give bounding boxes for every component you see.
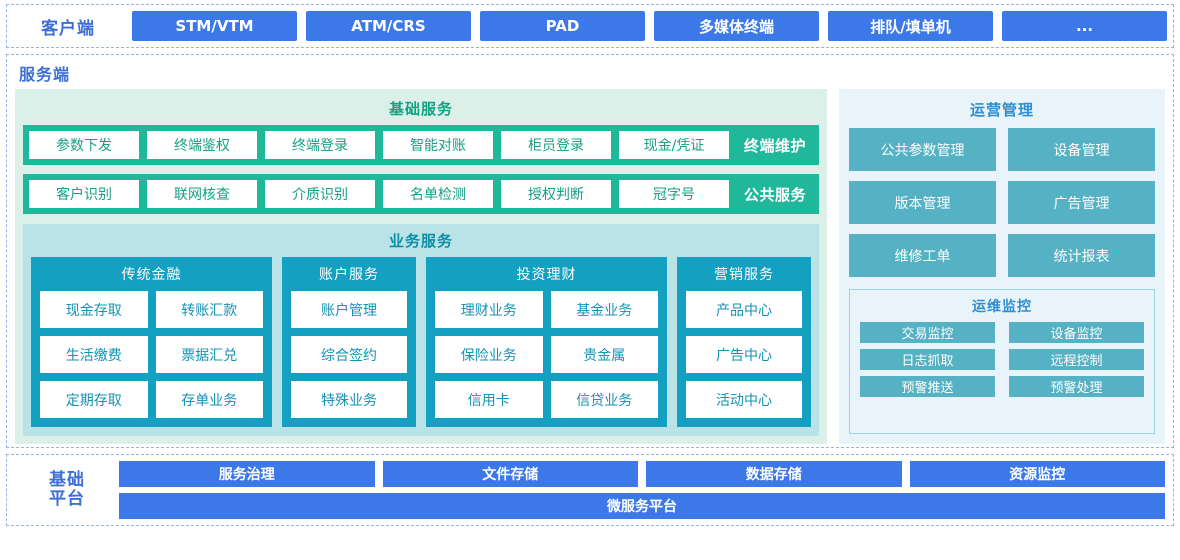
business-item-wealth-management[interactable]: 理财业务 (435, 291, 543, 328)
business-group-account-service: 账户服务 账户管理 综合签约 特殊业务 (282, 257, 416, 427)
platform-item-resource-monitoring[interactable]: 资源监控 (910, 461, 1166, 487)
business-services: 业务服务 传统金融 现金存取 转账汇款 生活缴费 票据汇兑 定期存取 存单 (23, 224, 819, 436)
business-group-items: 产品中心 广告中心 活动中心 (686, 291, 802, 418)
platform-layer: 基础 平台 服务治理 文件存储 数据存储 资源监控 微服务平台 (6, 454, 1174, 526)
platform-items: 服务治理 文件存储 数据存储 资源监控 (119, 461, 1165, 487)
operations-item-public-parameter-management[interactable]: 公共参数管理 (849, 128, 996, 171)
business-item-fixed-deposit[interactable]: 定期存取 (40, 381, 148, 418)
operations-item-repair-work-order[interactable]: 维修工单 (849, 234, 996, 277)
basic-cell-serial-number[interactable]: 冠字号 (619, 180, 729, 208)
platform-content: 服务治理 文件存储 数据存储 资源监控 微服务平台 (119, 461, 1165, 519)
client-item-pad[interactable]: PAD (480, 11, 645, 41)
operations-column: 运营管理 公共参数管理 设备管理 版本管理 广告管理 维修工单 统计报表 运维监… (839, 89, 1165, 444)
business-group-traditional-finance: 传统金融 现金存取 转账汇款 生活缴费 票据汇兑 定期存取 存单业务 (31, 257, 272, 427)
business-item-comprehensive-contract[interactable]: 综合签约 (291, 336, 407, 373)
basic-cell-media-recognition[interactable]: 介质识别 (265, 180, 375, 208)
server-layer-label: 服务端 (19, 61, 1165, 85)
business-group-investment: 投资理财 理财业务 基金业务 保险业务 贵金属 信用卡 信贷业务 (426, 257, 667, 427)
operations-item-advertising-management[interactable]: 广告管理 (1008, 181, 1155, 224)
business-group-title: 投资理财 (435, 262, 658, 291)
operations-title: 运营管理 (849, 95, 1155, 128)
operations-items: 公共参数管理 设备管理 版本管理 广告管理 维修工单 统计报表 (849, 128, 1155, 277)
operations-item-statistical-report[interactable]: 统计报表 (1008, 234, 1155, 277)
business-item-special-business[interactable]: 特殊业务 (291, 381, 407, 418)
operations-item-version-management[interactable]: 版本管理 (849, 181, 996, 224)
basic-cell-authorization-judgment[interactable]: 授权判断 (501, 180, 611, 208)
business-group-title: 传统金融 (40, 262, 263, 291)
basic-cell-terminal-login[interactable]: 终端登录 (265, 131, 375, 159)
basic-cell-param-dispatch[interactable]: 参数下发 (29, 131, 139, 159)
business-item-transfer-remittance[interactable]: 转账汇款 (156, 291, 264, 328)
business-group-items: 理财业务 基金业务 保险业务 贵金属 信用卡 信贷业务 (435, 291, 658, 418)
monitoring-item-alert-handling[interactable]: 预警处理 (1009, 376, 1144, 397)
business-item-bill-exchange[interactable]: 票据汇兑 (156, 336, 264, 373)
platform-item-service-governance[interactable]: 服务治理 (119, 461, 375, 487)
business-item-advertising-center[interactable]: 广告中心 (686, 336, 802, 373)
business-item-cash-deposit-withdrawal[interactable]: 现金存取 (40, 291, 148, 328)
basic-row-label-public-service: 公共服务 (737, 184, 813, 205)
client-item-more[interactable]: ... (1002, 11, 1167, 41)
client-layer-label: 客户端 (13, 14, 123, 39)
monitoring-box: 运维监控 交易监控 设备监控 日志抓取 远程控制 预警推送 预警处理 (849, 289, 1155, 434)
client-item-stm-vtm[interactable]: STM/VTM (132, 11, 297, 41)
client-item-multimedia-terminal[interactable]: 多媒体终端 (654, 11, 819, 41)
business-group-marketing-service: 营销服务 产品中心 广告中心 活动中心 (677, 257, 811, 427)
monitoring-item-remote-control[interactable]: 远程控制 (1009, 349, 1144, 370)
business-group-title: 营销服务 (686, 262, 802, 291)
business-group-items: 账户管理 综合签约 特殊业务 (291, 291, 407, 418)
platform-item-file-storage[interactable]: 文件存储 (383, 461, 639, 487)
platform-item-data-storage[interactable]: 数据存储 (646, 461, 902, 487)
services-column: 基础服务 参数下发 终端鉴权 终端登录 智能对账 柜员登录 现金/凭证 终端维护 (15, 89, 827, 444)
monitoring-title: 运维监控 (860, 294, 1144, 322)
platform-label-line2: 平台 (15, 490, 119, 509)
business-group-items: 现金存取 转账汇款 生活缴费 票据汇兑 定期存取 存单业务 (40, 291, 263, 418)
basic-cell-customer-identification[interactable]: 客户识别 (29, 180, 139, 208)
business-services-groups: 传统金融 现金存取 转账汇款 生活缴费 票据汇兑 定期存取 存单业务 (31, 257, 811, 427)
business-item-certificate-deposit[interactable]: 存单业务 (156, 381, 264, 418)
platform-layer-label: 基础 平台 (15, 471, 119, 508)
business-item-activity-center[interactable]: 活动中心 (686, 381, 802, 418)
monitoring-item-log-capture[interactable]: 日志抓取 (860, 349, 995, 370)
basic-cell-terminal-auth[interactable]: 终端鉴权 (147, 131, 257, 159)
architecture-diagram: 客户端 STM/VTM ATM/CRS PAD 多媒体终端 排队/填单机 ...… (0, 0, 1180, 560)
monitoring-items: 交易监控 设备监控 日志抓取 远程控制 预警推送 预警处理 (860, 322, 1144, 397)
basic-cell-list-check[interactable]: 名单检测 (383, 180, 493, 208)
business-item-fund-business[interactable]: 基金业务 (551, 291, 659, 328)
basic-services-title: 基础服务 (23, 95, 819, 125)
platform-label-line1: 基础 (15, 471, 119, 490)
basic-cell-online-verification[interactable]: 联网核查 (147, 180, 257, 208)
basic-cell-smart-reconciliation[interactable]: 智能对账 (383, 131, 493, 159)
platform-item-microservice-platform[interactable]: 微服务平台 (119, 493, 1165, 519)
monitoring-item-device-monitoring[interactable]: 设备监控 (1009, 322, 1144, 343)
business-item-credit-business[interactable]: 信贷业务 (551, 381, 659, 418)
basic-services-row: 参数下发 终端鉴权 终端登录 智能对账 柜员登录 现金/凭证 终端维护 (23, 125, 819, 165)
basic-cell-cash-voucher[interactable]: 现金/凭证 (619, 131, 729, 159)
business-item-precious-metals[interactable]: 贵金属 (551, 336, 659, 373)
server-body: 基础服务 参数下发 终端鉴权 终端登录 智能对账 柜员登录 现金/凭证 终端维护 (15, 89, 1165, 444)
client-item-queue-form-machine[interactable]: 排队/填单机 (828, 11, 993, 41)
basic-services-row: 客户识别 联网核查 介质识别 名单检测 授权判断 冠字号 公共服务 (23, 174, 819, 214)
monitoring-item-alert-push[interactable]: 预警推送 (860, 376, 995, 397)
business-item-credit-card[interactable]: 信用卡 (435, 381, 543, 418)
business-services-title: 业务服务 (31, 226, 811, 257)
business-item-insurance-business[interactable]: 保险业务 (435, 336, 543, 373)
operations-item-device-management[interactable]: 设备管理 (1008, 128, 1155, 171)
business-item-account-management[interactable]: 账户管理 (291, 291, 407, 328)
basic-cell-teller-login[interactable]: 柜员登录 (501, 131, 611, 159)
business-item-product-center[interactable]: 产品中心 (686, 291, 802, 328)
server-layer: 服务端 基础服务 参数下发 终端鉴权 终端登录 智能对账 柜员登录 现金/凭证 … (6, 54, 1174, 448)
monitoring-item-transaction-monitoring[interactable]: 交易监控 (860, 322, 995, 343)
basic-services-rows: 参数下发 终端鉴权 终端登录 智能对账 柜员登录 现金/凭证 终端维护 客户识别… (23, 125, 819, 214)
business-item-living-payment[interactable]: 生活缴费 (40, 336, 148, 373)
client-layer: 客户端 STM/VTM ATM/CRS PAD 多媒体终端 排队/填单机 ... (6, 4, 1174, 48)
client-item-atm-crs[interactable]: ATM/CRS (306, 11, 471, 41)
basic-row-label-terminal-maintenance: 终端维护 (737, 135, 813, 156)
business-group-title: 账户服务 (291, 262, 407, 291)
